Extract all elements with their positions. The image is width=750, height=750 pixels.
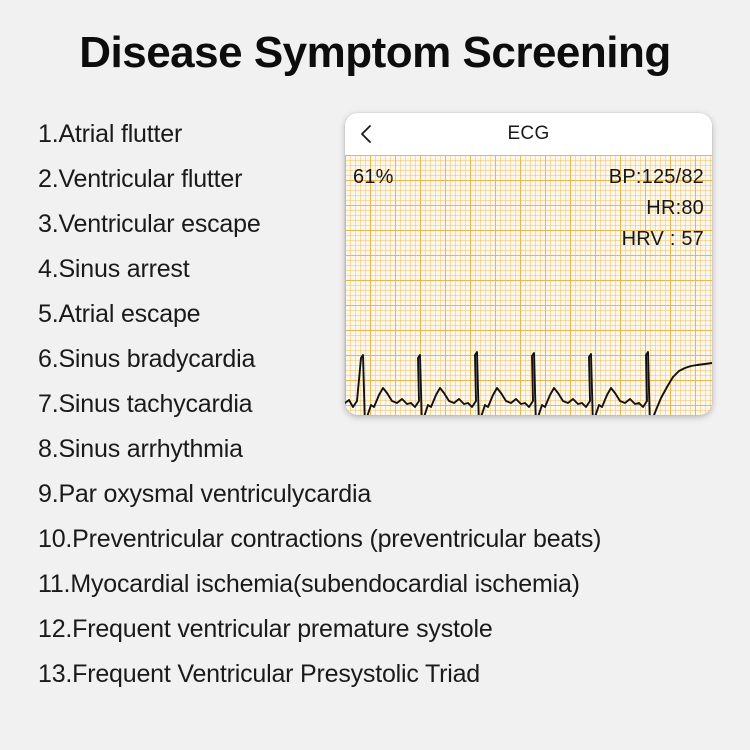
list-item-number: 11. (38, 570, 70, 598)
list-item: 13.Frequent Ventricular Presystolic Tria… (38, 652, 698, 697)
list-item-label: Ventricular flutter (58, 165, 242, 193)
list-item-label: Preventricular contractions (preventricu… (72, 525, 601, 553)
list-item-number: 1. (38, 120, 58, 148)
list-item-label: Frequent Ventricular Presystolic Triad (72, 660, 480, 688)
list-item-label: Sinus arrhythmia (58, 435, 242, 463)
list-item-number: 4. (38, 255, 58, 283)
list-item-number: 10. (38, 525, 72, 553)
list-item-number: 6. (38, 345, 58, 373)
list-item-number: 9. (38, 480, 58, 508)
list-item-label: Myocardial ischemia(subendocardial ische… (70, 570, 579, 598)
list-item-number: 3. (38, 210, 58, 238)
list-item: 10.Preventricular contractions (preventr… (38, 517, 698, 562)
ecg-waveform (345, 155, 712, 415)
list-item-number: 7. (38, 390, 58, 418)
battery-readout: 61% (353, 166, 394, 189)
list-item-label: Sinus arrest (58, 255, 189, 283)
ecg-screen: 61% BP:125/82 HR:80 HRV : 57 (345, 155, 712, 415)
list-item-label: Par oxysmal ventriculycardia (58, 480, 371, 508)
list-item-label: Atrial escape (58, 300, 200, 328)
ecg-device-card: ECG 61% BP:125/82 HR:80 HRV : 57 (345, 113, 712, 415)
list-item-number: 5. (38, 300, 58, 328)
list-item: 11.Myocardial ischemia(subendocardial is… (38, 562, 698, 607)
hrv-readout: HRV : 57 (622, 228, 704, 251)
list-item: 9.Par oxysmal ventriculycardia (38, 472, 698, 517)
list-item-number: 12. (38, 615, 72, 643)
ecg-header-bar: ECG (345, 113, 712, 155)
list-item-number: 8. (38, 435, 58, 463)
blood-pressure-readout: BP:125/82 (609, 166, 704, 189)
list-item-label: Sinus bradycardia (58, 345, 255, 373)
heart-rate-readout: HR:80 (646, 197, 704, 220)
list-item-number: 2. (38, 165, 58, 193)
list-item: 8.Sinus arrhythmia (38, 427, 698, 472)
page-title: Disease Symptom Screening (0, 28, 750, 78)
list-item-label: Atrial flutter (58, 120, 182, 148)
list-item-label: Ventricular escape (58, 210, 260, 238)
list-item-label: Sinus tachycardia (58, 390, 252, 418)
list-item-number: 13. (38, 660, 72, 688)
list-item: 12.Frequent ventricular premature systol… (38, 607, 698, 652)
ecg-title: ECG (507, 123, 549, 145)
chevron-left-icon[interactable] (356, 124, 376, 144)
list-item-label: Frequent ventricular premature systole (72, 615, 492, 643)
